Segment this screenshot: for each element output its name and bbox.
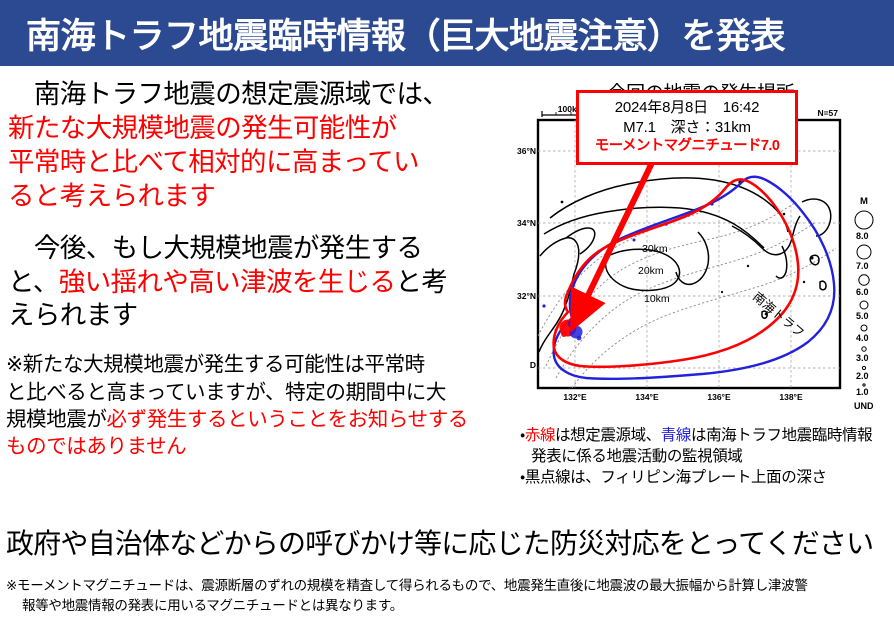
legend-line-1c: は想定震源域、: [555, 427, 661, 444]
callout-datetime: 2024年8月8日 16:42: [583, 98, 791, 118]
svg-text:6.0: 6.0: [856, 287, 869, 297]
event-callout-box: 2024年8月8日 16:42 M7.1 深さ：31km モーメントマグニチュー…: [576, 90, 798, 165]
event-count-label: N=57: [817, 108, 838, 118]
svg-text:UND: UND: [854, 401, 874, 411]
svg-text:4.0: 4.0: [856, 333, 869, 343]
lon-tick-134E: 134°E: [635, 392, 659, 402]
callout-magnitude-depth: M7.1 深さ：31km: [583, 118, 791, 138]
legend-line-1: ・赤線は想定震源域、青線は南海トラフ地震臨時情報: [520, 426, 892, 447]
disclaimer-note: ※新たな大規模地震が発生する可能性は平常時 と比べると高まっていますが、特定の期…: [0, 351, 505, 460]
page-title: 南海トラフ地震臨時情報（巨大地震注意）を発表: [26, 8, 785, 59]
depth-label-10km: 10km: [644, 293, 670, 305]
slide-title-bar: 南海トラフ地震臨時情報（巨大地震注意）を発表: [0, 0, 894, 66]
left-text-column: 南海トラフ地震の想定震源域では、 新たな大規模地震の発生可能性が 平常時と比べて…: [0, 72, 505, 517]
slide-root: 南海トラフ地震臨時情報（巨大地震注意）を発表 南海トラフ地震の想定震源域では、 …: [0, 0, 894, 631]
lat-tick-36N: 36°N: [517, 146, 536, 156]
paragraph-2-line-2b: 強い揺れや高い津波を生じる: [59, 267, 396, 297]
map-legend-text: ・赤線は想定震源域、青線は南海トラフ地震臨時情報 発表に係る地震活動の監視領域 …: [520, 426, 892, 489]
paragraph-2-line-2a: と、: [8, 267, 59, 297]
note-line-1: ※新たな大規模地震が発生する可能性は平常時: [6, 351, 501, 378]
lat-tick-32N: 32°N: [517, 291, 536, 301]
paragraph-2-line-2c: と考: [395, 267, 447, 297]
svg-text:3.0: 3.0: [856, 353, 869, 363]
lon-tick-138E: 138°E: [779, 392, 803, 402]
note-line-3b: 必ず発生するということをお知らせする: [107, 408, 468, 431]
depth-label-20km: 20km: [638, 265, 664, 277]
svg-text:8.0: 8.0: [856, 231, 869, 241]
legend-blue-line-keyword: 青線: [661, 427, 691, 444]
lat-tick-34N: 34°N: [517, 218, 536, 228]
svg-text:2.0: 2.0: [856, 371, 869, 381]
svg-text:7.0: 7.0: [856, 261, 869, 271]
paragraph-1-line-1: 南海トラフ地震の想定震源域では、: [8, 79, 448, 109]
longitude-axis-labels: 132°E 134°E 136°E 138°E: [563, 392, 803, 402]
paragraph-1-line-2: 新たな大規模地震の発生可能性が: [8, 113, 397, 143]
note-line-3a: 規模地震が: [6, 408, 107, 431]
legend-red-line-keyword: 赤線: [525, 427, 555, 444]
call-to-action-message: 政府や自治体などからの呼びかけ等に応じた防災対応をとってください: [0, 522, 894, 562]
paragraph-2: 今後、もし大規模地震が発生する と、強い揺れや高い津波を生じると考 えられます: [0, 232, 505, 334]
paragraph-2-line-3: えられます: [8, 300, 138, 330]
legend-line-2: 発表に係る地震活動の監視領域: [520, 447, 892, 468]
paragraph-1-line-3: 平常時と比べて相対的に高まってい: [8, 147, 419, 177]
note-line-3: 規模地震が必ず発生するということをお知らせする: [6, 406, 501, 433]
latitude-axis-labels: 36°N 34°N 32°N D: [517, 146, 536, 370]
lon-tick-136E: 136°E: [707, 392, 731, 402]
footnote: ※モーメントマグニチュードは、震源断層のずれの規模を精査して得られるもので、地震…: [0, 576, 894, 617]
legend-line-1e: は南海トラフ地震臨時情報: [691, 427, 872, 444]
legend-line-3: ・黒点線は、フィリピン海プレート上面の深さ: [520, 468, 892, 489]
footnote-line-2: 報等や地震情報の発表に用いるマグニチュードとは異なります。: [6, 596, 894, 616]
map-panel: 今回の地震の発生場所: [508, 78, 894, 518]
svg-text:1.0: 1.0: [856, 387, 869, 397]
svg-text:5.0: 5.0: [856, 311, 869, 321]
lon-tick-132E: 132°E: [563, 392, 587, 402]
magnitude-legend-header: M: [860, 196, 868, 207]
paragraph-1-line-4: ると考えられます: [8, 181, 215, 211]
paragraph-2-line-1: 今後、もし大規模地震が発生する: [8, 233, 422, 263]
paragraph-1: 南海トラフ地震の想定震源域では、 新たな大規模地震の発生可能性が 平常時と比べて…: [0, 78, 505, 214]
depth-label-30km: 30km: [642, 243, 668, 255]
depth-axis-label: D: [530, 360, 536, 370]
note-line-4: ものではありません: [6, 433, 501, 460]
note-line-2: と比べると高まっていますが、特定の期間中に大: [6, 379, 501, 406]
magnitude-scale-legend: M 8.0 7.0 6.0 5.0 4.0 3.0 2.0 1.: [854, 196, 874, 411]
callout-moment-magnitude: モーメントマグニチュード7.0: [583, 137, 791, 156]
footnote-line-1: ※モーメントマグニチュードは、震源断層のずれの規模を精査して得られるもので、地震…: [6, 578, 808, 593]
